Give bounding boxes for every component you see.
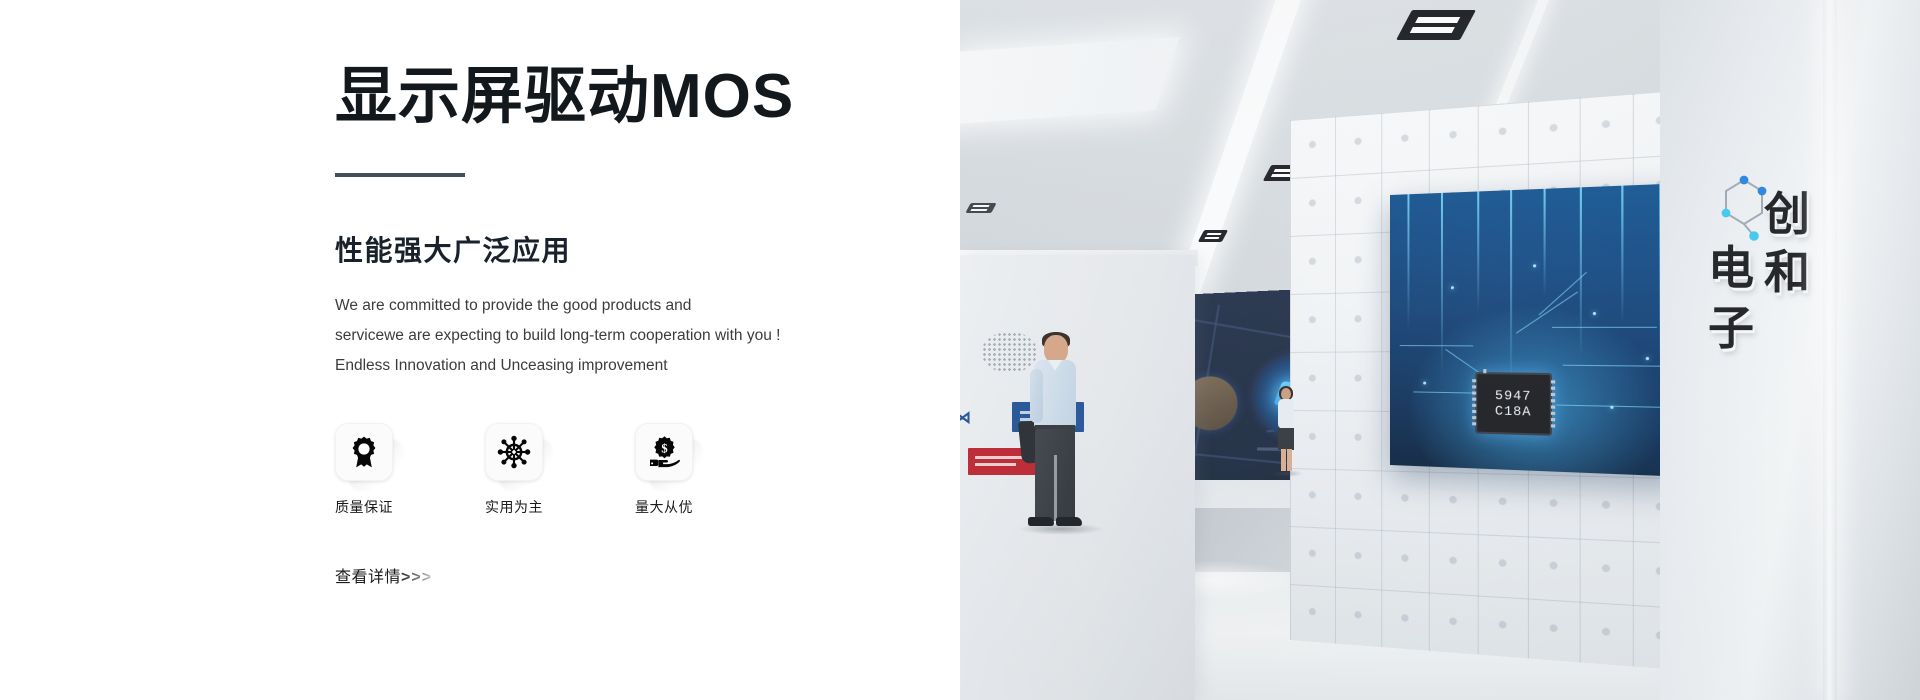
award-ribbon-icon: [347, 435, 381, 469]
feature-item-practical[interactable]: 实用为主: [485, 423, 589, 517]
screen-light-streak: [1621, 186, 1623, 325]
feature-tile: [485, 423, 543, 481]
hero-banner: 显示屏驱动MOS 性能强大广泛应用 We are committed to pr…: [0, 0, 1920, 700]
feature-label: 量大从优: [635, 497, 693, 517]
banner-content: 显示屏驱动MOS 性能强大广泛应用 We are committed to pr…: [335, 62, 925, 587]
woman-figure: [1273, 388, 1299, 474]
brand-pillar: 创 和 电 子: [1660, 0, 1920, 700]
brand-char-chuang: 创: [1764, 178, 1810, 244]
circuit-trace: [1400, 345, 1473, 346]
figure-shoe: [1056, 517, 1082, 526]
screen-light-streak: [1441, 193, 1443, 374]
blue-led-display-screen: 5947 C18A: [1390, 183, 1686, 477]
feature-list: 质量保证: [335, 423, 925, 517]
pillar-edge-light: [1823, 0, 1837, 700]
circuit-trace: [1413, 391, 1473, 393]
brand-char-he: 和: [1764, 236, 1810, 302]
description-line-2: servicewe are expecting to build long-te…: [335, 321, 925, 351]
feature-label: 质量保证: [335, 497, 393, 517]
network-hub-icon: [497, 435, 531, 469]
description-line-1: We are committed to provide the good pro…: [335, 291, 925, 321]
brand-wall-signage: 创 和 电 子: [1660, 0, 1840, 700]
businessman-figure: [1022, 335, 1092, 535]
screen-light-streak: [1510, 190, 1512, 391]
cta-arrows: >>>: [401, 569, 432, 586]
figure-arm: [1030, 369, 1043, 423]
screen-node-dot: [1646, 357, 1649, 360]
figure-shadow: [1271, 470, 1303, 477]
banner-text-panel: 显示屏驱动MOS 性能强大广泛应用 We are committed to pr…: [0, 0, 960, 700]
description-line-3: Endless Innovation and Unceasing improve…: [335, 351, 925, 381]
screen-light-streak: [1407, 194, 1409, 330]
chip-pins-left: [1472, 379, 1476, 426]
page-title: 显示屏驱动MOS: [335, 62, 925, 131]
brand-char-dian: 电: [1708, 232, 1754, 298]
screen-node-dot: [1593, 312, 1596, 315]
screen-light-streak: [1580, 187, 1582, 358]
cta-label: 查看详情: [335, 569, 401, 586]
chip-graphic: 5947 C18A: [1475, 372, 1552, 436]
screen-node-dot: [1451, 286, 1454, 289]
hand-money-icon: $: [647, 435, 681, 469]
svg-text:$: $: [661, 442, 667, 456]
screen-light-streak: [1477, 191, 1479, 313]
view-details-link[interactable]: 查看详情>>>: [335, 563, 432, 587]
banner-subtitle: 性能强大广泛应用: [335, 229, 925, 269]
chip-label-line-1: 5947: [1495, 388, 1532, 404]
chip-label-line-2: C18A: [1495, 403, 1532, 419]
circuit-trace: [1552, 327, 1657, 328]
figure-skirt: [1278, 428, 1294, 450]
feature-item-quality[interactable]: 质量保证: [335, 423, 439, 517]
feature-label: 实用为主: [485, 497, 543, 517]
title-divider: [335, 173, 465, 177]
chip-pins-top: [1483, 369, 1487, 373]
figure-head: [1044, 335, 1068, 363]
figure-leg-gap: [1054, 455, 1057, 521]
wall-logo-mark: ⋊: [960, 408, 994, 430]
figure-shoe: [1028, 517, 1054, 526]
ceiling-spotlight: [965, 203, 996, 213]
screen-node-dot: [1610, 406, 1613, 409]
banner-description: We are committed to provide the good pro…: [335, 291, 925, 381]
feature-tile: [335, 423, 393, 481]
brand-char-zi: 子: [1708, 292, 1754, 358]
chip-pins-right: [1551, 380, 1555, 428]
screen-light-streak: [1544, 189, 1546, 296]
screen-node-dot: [1533, 264, 1536, 267]
figure-top: [1278, 399, 1294, 429]
feature-item-bulk-discount[interactable]: $ 量大从优: [635, 423, 739, 517]
feature-tile: $: [635, 423, 693, 481]
figure-legs: [1281, 449, 1292, 471]
showroom-interior-photo: 5947 C18A ⋊: [960, 0, 1920, 700]
screen-node-dot: [1423, 382, 1426, 385]
